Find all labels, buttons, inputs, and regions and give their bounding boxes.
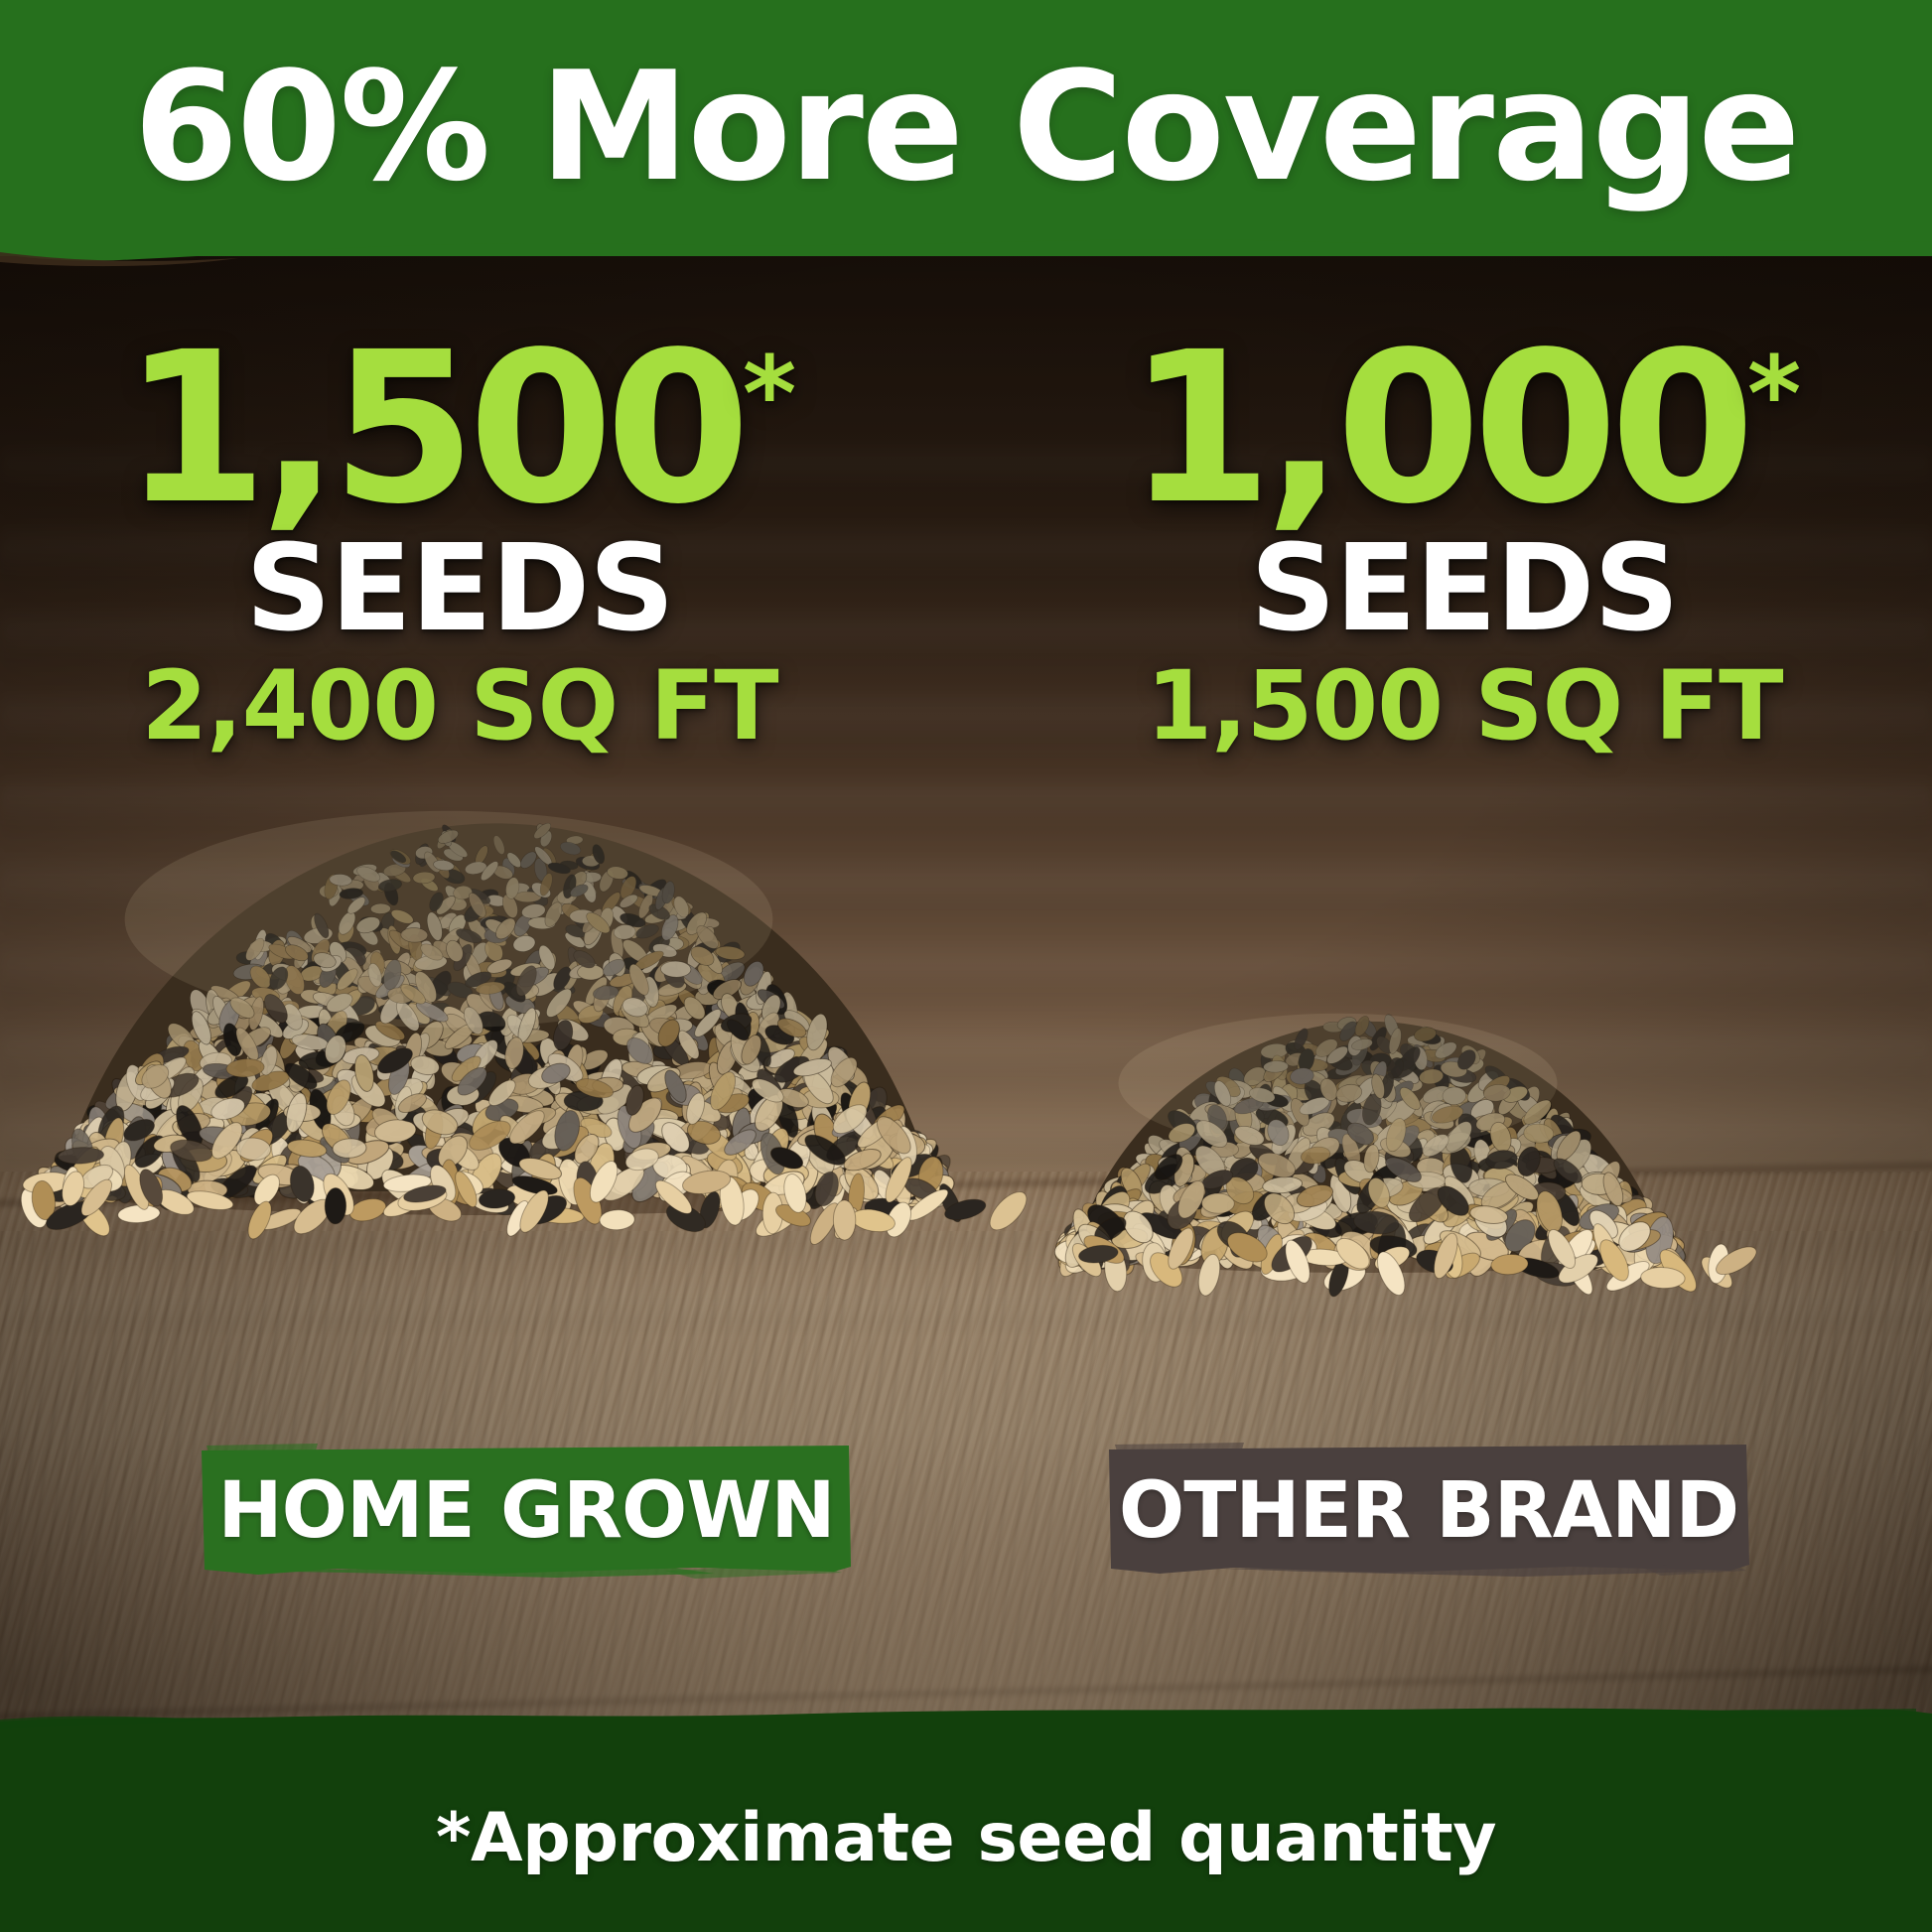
seed [325,1187,346,1224]
brand-badge-home-grown: HOME GROWN [199,1442,854,1581]
pile-highlight [125,811,773,1028]
page-title: 60% More Coverage [0,52,1932,203]
pile-highlight [1119,1014,1558,1153]
asterisk-marker: * [1747,334,1801,455]
seed-count-value: 1,000 [1128,307,1747,550]
seed-pile-svg [1047,1003,1693,1271]
badge-label-home-grown: HOME GROWN [217,1466,834,1556]
stat-block-other-brand: 1,000* SEEDS 1,500 SQ FT [1052,338,1876,757]
seed-pile-home-grown [20,794,973,1211]
coverage-home-grown: 2,400 SQ FT [48,656,872,757]
seed-pile-other-brand [1047,1003,1693,1271]
footnote: *Approximate seed quantity [0,1799,1932,1877]
stat-block-home-grown: 1,500* SEEDS 2,400 SQ FT [48,338,872,757]
comparison-stats: 1,500* SEEDS 2,400 SQ FT 1,000* SEEDS 1,… [0,338,1932,794]
promo-graphic: 1,500* SEEDS 2,400 SQ FT 1,000* SEEDS 1,… [0,0,1932,1932]
seed-count-value: 1,500 [123,307,743,550]
seed-count-other-brand: 1,000* [1052,338,1876,521]
seed [833,1200,856,1240]
badge-label-other-brand: OTHER BRAND [1119,1466,1738,1556]
brand-badge-other-brand: OTHER BRAND [1105,1442,1752,1581]
asterisk-marker: * [743,334,796,455]
coverage-other-brand: 1,500 SQ FT [1052,656,1876,757]
seed-pile-svg [20,794,973,1211]
seed-count-home-grown: 1,500* [48,338,872,521]
